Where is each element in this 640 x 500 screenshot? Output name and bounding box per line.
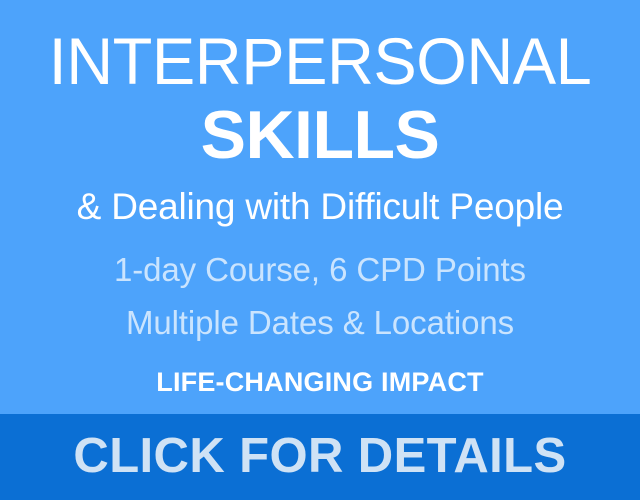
advertisement-banner[interactable]: INTERPERSONAL SKILLS & Dealing with Diff… [0,0,640,500]
course-detail-dates-locations: Multiple Dates & Locations [0,296,640,349]
ad-content-area: INTERPERSONAL SKILLS & Dealing with Diff… [0,0,640,414]
call-to-action-label: CLICK FOR DETAILS [73,432,566,483]
course-detail-duration-cpd: 1-day Course, 6 CPD Points [0,243,640,296]
call-to-action-button[interactable]: CLICK FOR DETAILS [0,414,640,500]
tagline-text: LIFE-CHANGING IMPACT [0,366,640,398]
headline-group: INTERPERSONAL SKILLS [0,24,640,175]
headline-line-primary: INTERPERSONAL [5,24,635,99]
course-details-list: 1-day Course, 6 CPD Points Multiple Date… [0,243,640,350]
subheadline-text: & Dealing with Difficult People [0,185,640,229]
headline-line-secondary: SKILLS [0,95,640,175]
